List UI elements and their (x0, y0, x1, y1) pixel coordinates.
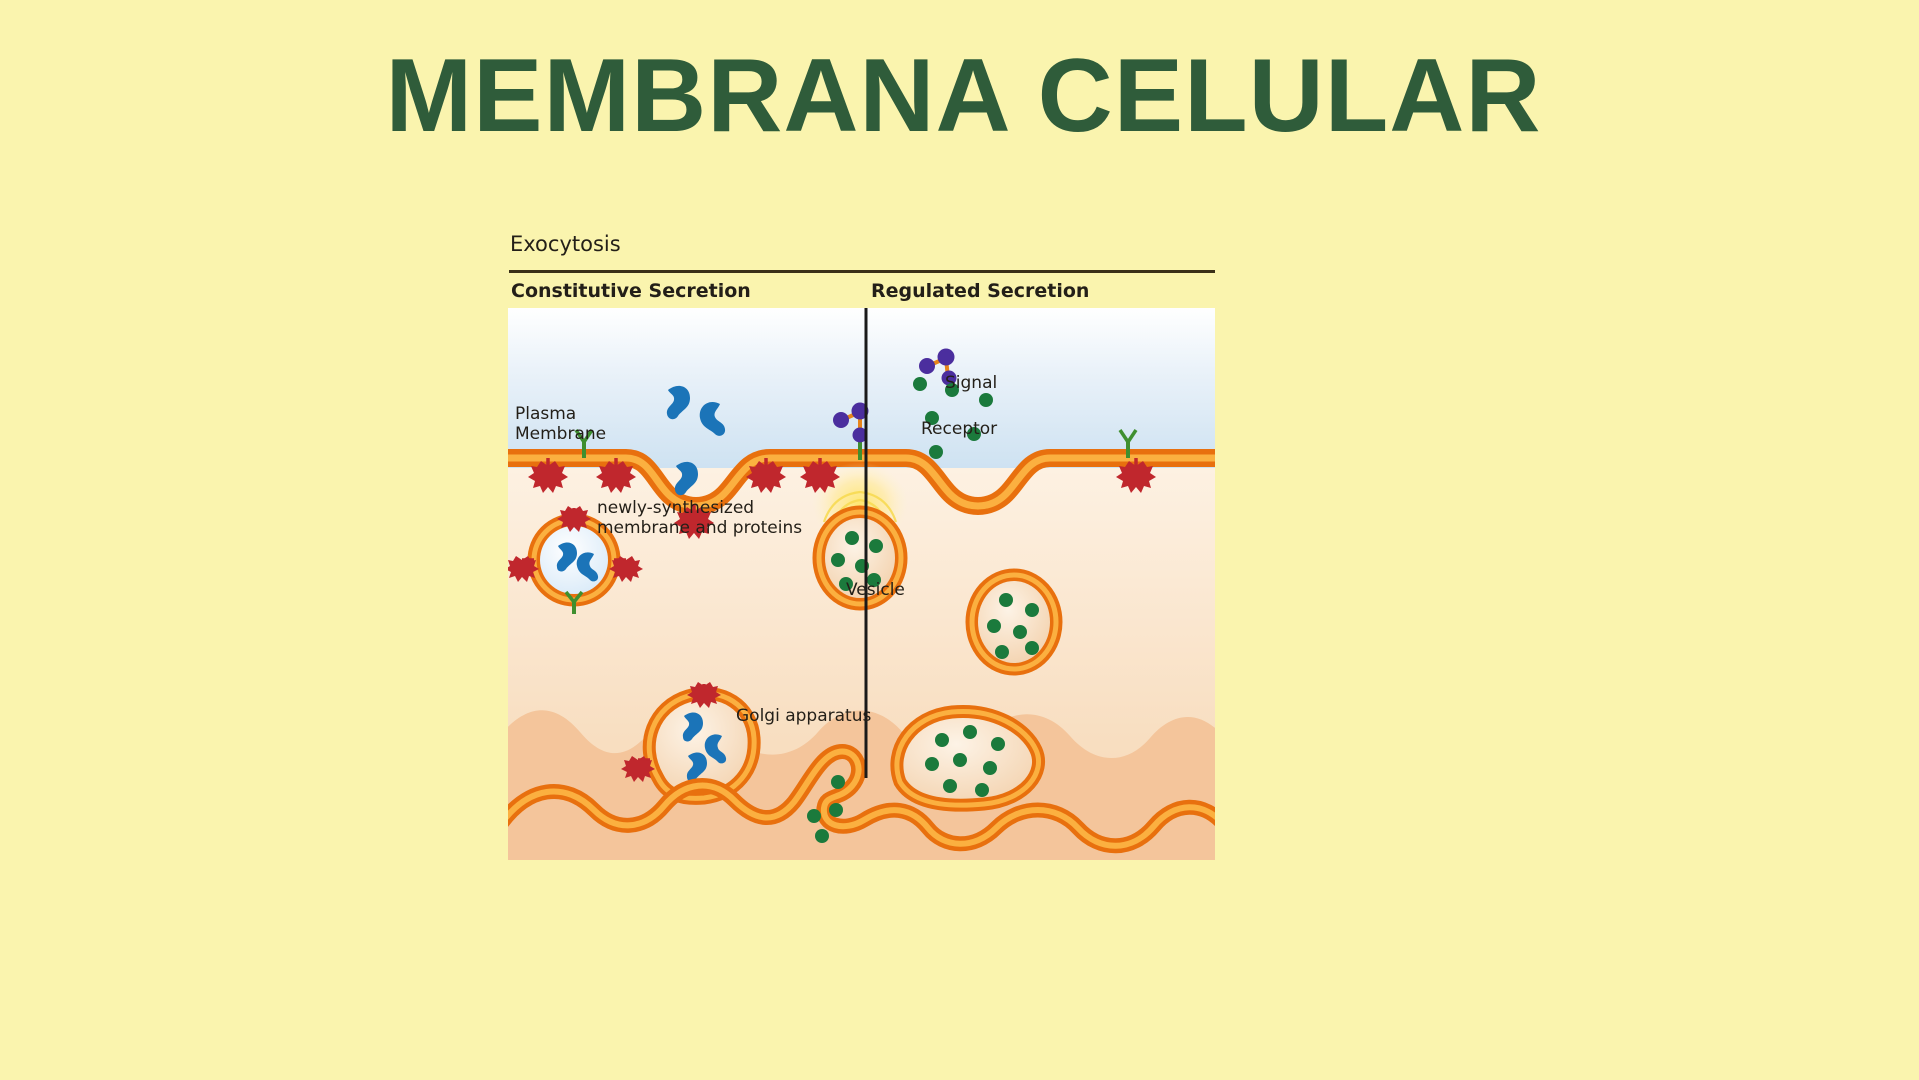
plasma-membrane-line2: Membrane (515, 424, 606, 444)
secretory-granule-vesicle (972, 575, 1056, 669)
vesicle-label: Vesicle (846, 580, 905, 600)
newly-synthesized-line1: newly-synthesized (597, 498, 802, 518)
signal-label: Signal (945, 373, 997, 393)
exocytosis-diagram: Plasma Membrane newly-synthesized membra… (508, 308, 1215, 860)
plasma-membrane-line1: Plasma (515, 404, 606, 424)
receptor-label: Receptor (921, 419, 997, 439)
golgi-budding-lobe-right (897, 711, 1039, 805)
page-title: MEMBRANA CELULAR (0, 42, 1919, 151)
header-divider-rule (509, 270, 1215, 273)
figure-title: Exocytosis (510, 232, 621, 256)
regulated-secretion-heading: Regulated Secretion (871, 280, 1089, 302)
constitutive-secretion-heading: Constitutive Secretion (511, 280, 751, 302)
newly-synthesized-label: newly-synthesized membrane and proteins (597, 498, 802, 538)
plasma-membrane-label: Plasma Membrane (515, 404, 606, 444)
golgi-apparatus-label: Golgi apparatus (736, 706, 871, 726)
exocytosis-figure: Exocytosis Constitutive Secretion Regula… (505, 232, 1215, 860)
newly-synthesized-line2: membrane and proteins (597, 518, 802, 538)
